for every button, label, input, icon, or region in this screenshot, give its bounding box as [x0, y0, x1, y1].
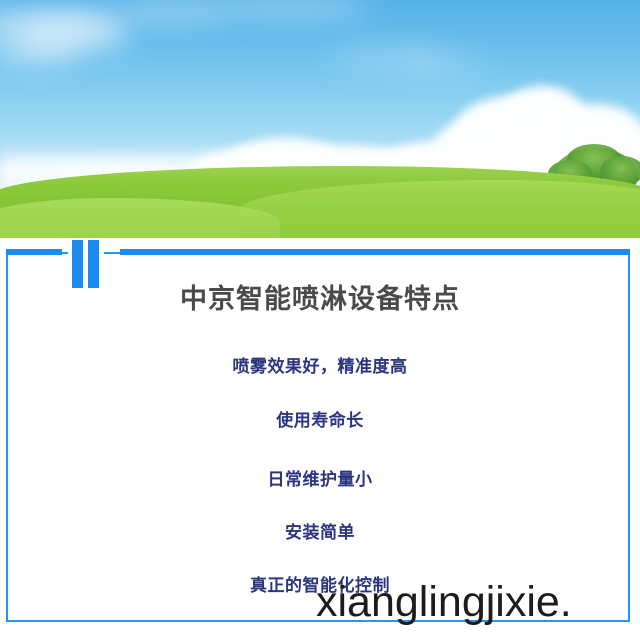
- watermark-text: xianglingjixie.: [316, 578, 640, 627]
- feature-list: 喷雾效果好，精准度高 使用寿命长 日常维护量小 安装简单 真正的智能化控制: [0, 352, 640, 596]
- accent-rule-right: [120, 249, 630, 255]
- feature-list-item: 使用寿命长: [0, 406, 640, 431]
- cloud-wisp: [400, 60, 490, 70]
- feature-list-item: 日常维护量小: [0, 465, 640, 490]
- feature-list-item: 安装简单: [0, 518, 640, 543]
- hero-landscape-banner: [0, 0, 640, 238]
- page-title: 中京智能喷淋设备特点: [0, 277, 640, 316]
- accent-rule-left: [6, 249, 62, 255]
- feature-list-item: 喷雾效果好，精准度高: [0, 352, 640, 377]
- slide-root: 中京智能喷淋设备特点 喷雾效果好，精准度高 使用寿命长 日常维护量小 安装简单 …: [0, 0, 640, 640]
- cloud-wisp: [210, 0, 370, 14]
